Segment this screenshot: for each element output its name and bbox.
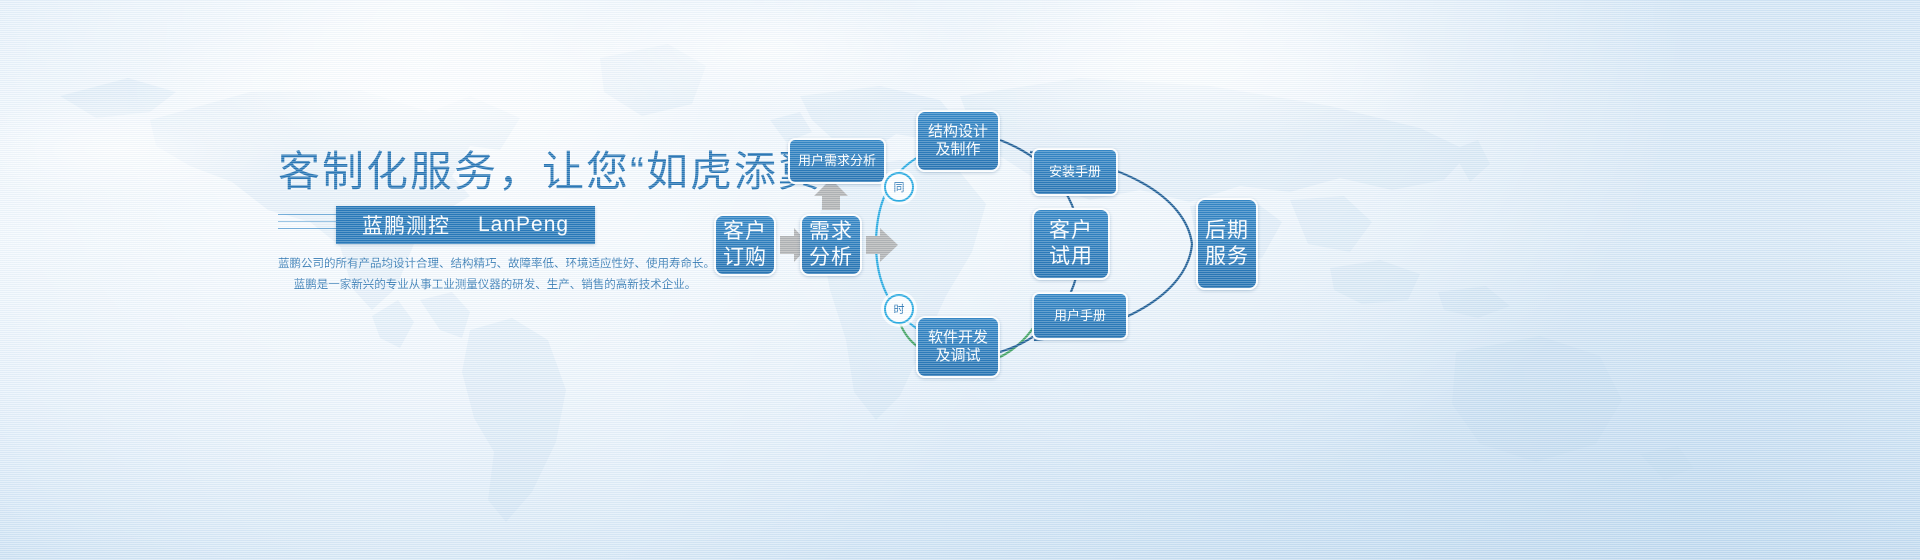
brand-name-cn: 蓝鹏测控 — [362, 210, 450, 240]
brand-bar: 蓝鹏测控 LanPeng — [336, 206, 595, 244]
description-line-2: 蓝鹏是一家新兴的专业从事工业测量仪器的研发、生产、销售的高新技术企业。 — [292, 275, 698, 296]
banner-copy-block: 客制化服务，让您“如虎添翼” 蓝鹏测控 LanPeng 蓝鹏公司的所有产品均设计… — [0, 0, 720, 560]
flow-node-user-requirement-analysis[interactable]: 用户需求分析 — [788, 138, 886, 184]
brand-bar-wrapper: 蓝鹏测控 LanPeng — [278, 206, 698, 244]
brand-name-en: LanPeng — [478, 213, 569, 237]
flow-node-installation-manual[interactable]: 安装手册 — [1032, 148, 1118, 196]
flow-node-customer-trial[interactable]: 客户 试用 — [1032, 208, 1110, 280]
flow-node-software-development[interactable]: 软件开发 及调试 — [916, 316, 1000, 378]
banner-description: 蓝鹏公司的所有产品均设计合理、结构精巧、故障率低、环境适应性好、使用寿命长。 蓝… — [278, 254, 698, 296]
flow-node-structure-design[interactable]: 结构设计 及制作 — [916, 110, 1000, 172]
flow-node-after-sales-service[interactable]: 后期 服务 — [1196, 198, 1258, 290]
flow-badge-badge-shi: 时 — [884, 294, 914, 324]
flow-badge-badge-tong: 同 — [884, 172, 914, 202]
flow-node-customer-order[interactable]: 客户 订购 — [714, 214, 776, 276]
flow-node-user-manual[interactable]: 用户手册 — [1032, 292, 1128, 340]
customization-service-banner: 客制化服务，让您“如虎添翼” 蓝鹏测控 LanPeng 蓝鹏公司的所有产品均设计… — [0, 0, 1920, 560]
description-line-1: 蓝鹏公司的所有产品均设计合理、结构精巧、故障率低、环境适应性好、使用寿命长。 — [278, 254, 698, 275]
flow-node-requirement-analysis[interactable]: 需求 分析 — [800, 214, 862, 276]
service-flow-diagram: 用户需求分析客户 订购需求 分析结构设计 及制作软件开发 及调试安装手册客户 试… — [700, 0, 1320, 560]
